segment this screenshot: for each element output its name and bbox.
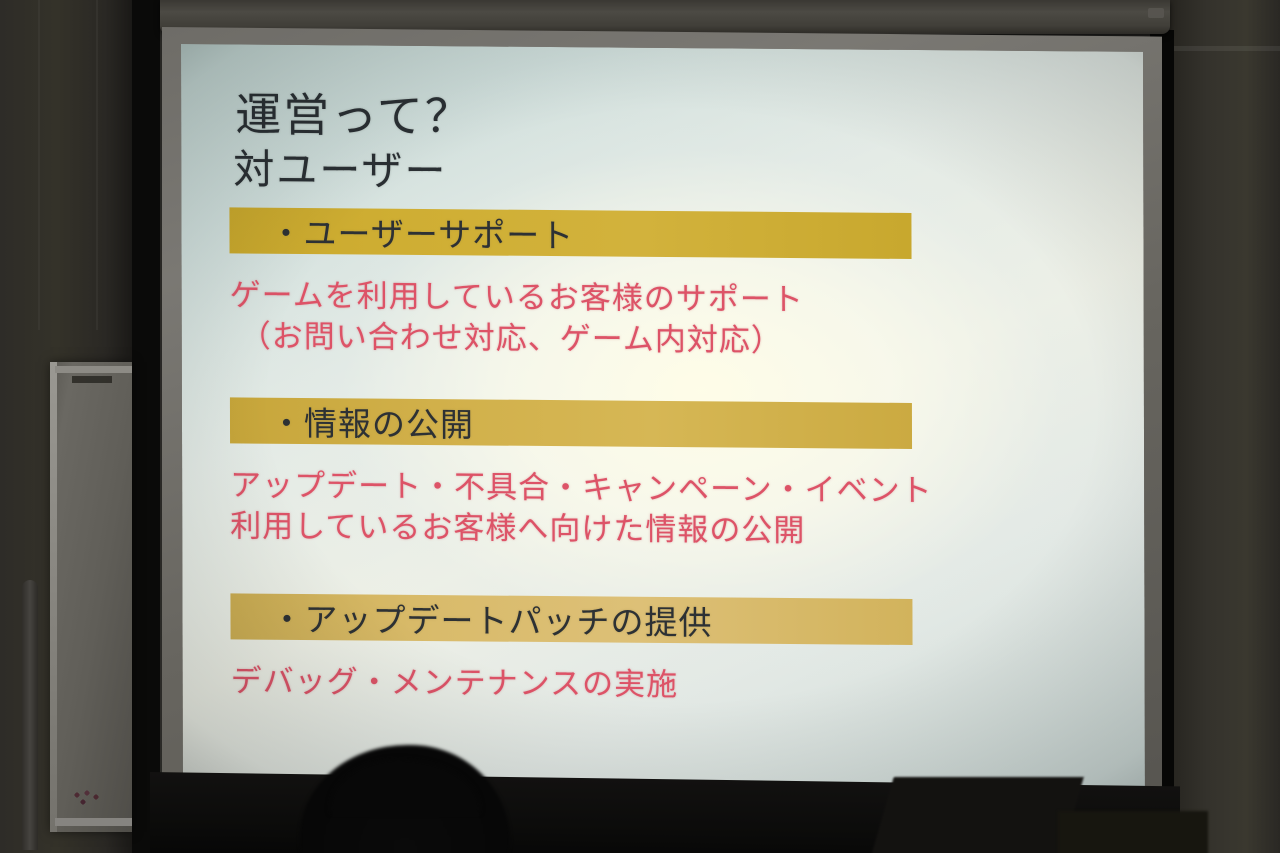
right-wall-trim — [1168, 46, 1280, 51]
right-wall-panel — [1168, 0, 1280, 853]
speaker-side-rail — [50, 362, 57, 832]
section-body-user-support: ゲームを利用しているお客様のサポート （お問い合わせ対応、ゲーム内対応） — [230, 276, 1098, 365]
slide-subtitle: 対ユーザー — [233, 145, 1097, 203]
slide-title: 運営って？ — [235, 86, 1097, 149]
speaker-logo — [72, 376, 112, 383]
body-line: 利用しているお客様へ向けた情報の公開 — [230, 506, 1098, 554]
speaker-bottom-trim — [55, 818, 132, 826]
slide-content: 運営って？ 対ユーザー ・ユーザーサポート ゲームを利用しているお客様のサポート… — [181, 44, 1145, 797]
section-band-user-support: ・ユーザーサポート — [229, 208, 911, 260]
speaker-indicator-dots — [72, 790, 102, 806]
chair-silhouette — [1058, 811, 1208, 853]
left-shadow-gap — [132, 0, 160, 853]
section-band-information-release: ・情報の公開 — [230, 398, 912, 450]
body-line: アップデート・不具合・キャンペーン・イベント — [230, 466, 1098, 514]
speaker-top-trim — [55, 366, 132, 373]
wall-speaker — [50, 362, 132, 832]
chair-silhouette — [866, 777, 1084, 853]
body-line: ゲームを利用しているお客様のサポート — [230, 276, 1098, 324]
wall-pipe — [22, 580, 38, 850]
section-body-information-release: アップデート・不具合・キャンペーン・イベント 利用しているお客様へ向けた情報の公… — [230, 466, 1098, 555]
section-body-update-patch: デバッグ・メンテナンスの実施 — [231, 661, 1099, 709]
roller-end-cap — [1148, 8, 1164, 18]
lecture-room-photo: 運営って？ 対ユーザー ・ユーザーサポート ゲームを利用しているお客様のサポート… — [0, 0, 1280, 853]
body-line: （お問い合わせ対応、ゲーム内対応） — [230, 317, 1098, 365]
projected-slide: 運営って？ 対ユーザー ・ユーザーサポート ゲームを利用しているお客様のサポート… — [181, 44, 1145, 797]
section-band-update-patch: ・アップデートパッチの提供 — [230, 593, 912, 645]
body-line: デバッグ・メンテナンスの実施 — [231, 661, 1099, 709]
